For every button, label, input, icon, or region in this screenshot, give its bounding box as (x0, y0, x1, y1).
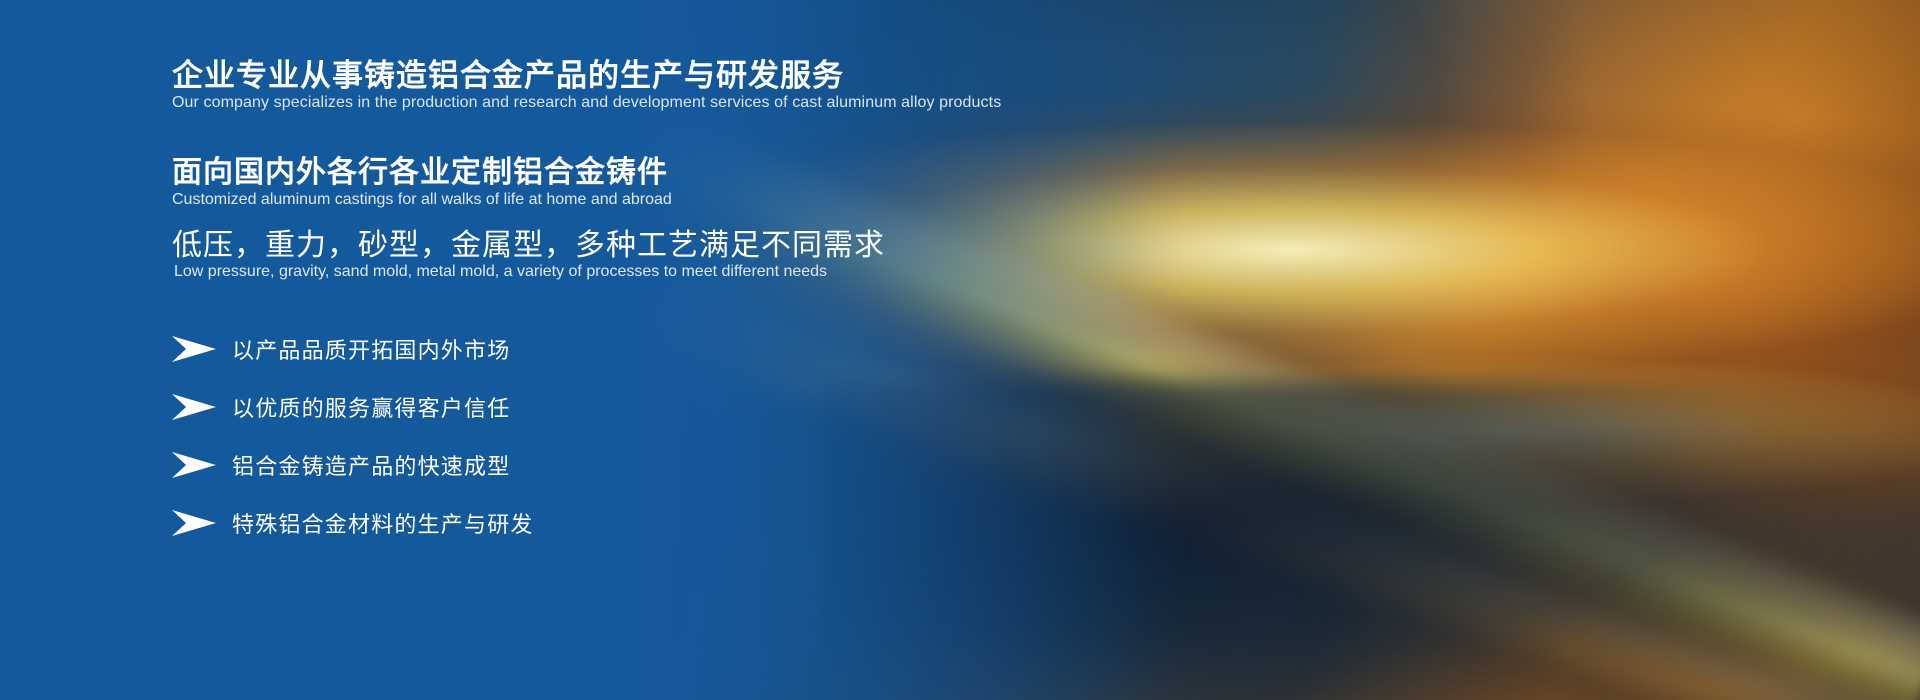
feature-label: 以产品品质开拓国内外市场 (232, 333, 510, 365)
list-item: 以产品品质开拓国内外市场 (172, 320, 872, 377)
banner-content: 企业专业从事铸造铝合金产品的生产与研发服务 Our company specia… (172, 0, 1172, 700)
arrow-right-icon (172, 452, 216, 478)
headline-secondary-zh: 面向国内外各行各业定制铝合金铸件 (172, 147, 668, 191)
arrow-right-icon (172, 510, 216, 536)
arrow-right-icon (172, 336, 216, 362)
headline-tertiary-zh: 低压，重力，砂型，金属型，多种工艺满足不同需求 (172, 220, 885, 264)
list-item: 以优质的服务赢得客户信任 (172, 378, 872, 435)
feature-label: 特殊铝合金材料的生产与研发 (232, 507, 534, 539)
list-item: 特殊铝合金材料的生产与研发 (172, 494, 872, 551)
hero-banner: 企业专业从事铸造铝合金产品的生产与研发服务 Our company specia… (0, 0, 1920, 700)
feature-list: 以产品品质开拓国内外市场 以优质的服务赢得客户信任 铝合金铸造产品的快速成型 特… (172, 320, 872, 552)
feature-label: 以优质的服务赢得客户信任 (232, 391, 510, 423)
arrow-right-icon (172, 394, 216, 420)
headline-tertiary-en: Low pressure, gravity, sand mold, metal … (174, 263, 827, 281)
headline-primary-zh: 企业专业从事铸造铝合金产品的生产与研发服务 (172, 50, 844, 95)
feature-label: 铝合金铸造产品的快速成型 (232, 449, 510, 481)
headline-secondary-en: Customized aluminum castings for all wal… (172, 191, 672, 209)
list-item: 铝合金铸造产品的快速成型 (172, 436, 872, 493)
headline-primary-en: Our company specializes in the productio… (172, 94, 1001, 112)
